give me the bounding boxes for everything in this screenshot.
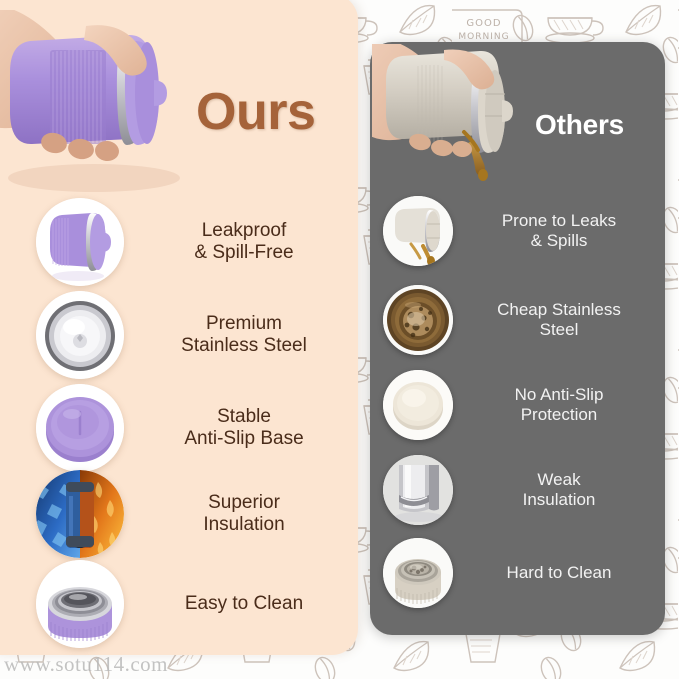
thumb-leaking-beige-lid (383, 196, 453, 266)
thumb-plain-smooth-base (383, 370, 453, 440)
thumb-rusty-stained-interior (383, 285, 453, 355)
thumb-hot-cold-split-tumbler (36, 470, 124, 558)
thumb-purple-lid-closeup (36, 198, 124, 286)
ours-title: Ours (196, 82, 315, 142)
ours-feature-row-1: Leakproof & Spill-Free (36, 198, 354, 286)
watermark: www.sotu114.com (4, 652, 168, 677)
others-feature-row-3: No Anti-Slip Protection (383, 370, 655, 440)
thumb-wide-mouth-opening (36, 560, 124, 648)
thumb-thin-single-wall (383, 455, 453, 525)
ours-feature-label-2: Premium Stainless Steel (138, 313, 350, 358)
others-feature-row-5: Hard to Clean (383, 538, 655, 608)
others-feature-label-3: No Anti-Slip Protection (465, 385, 653, 425)
others-title: Others (535, 109, 624, 141)
ours-feature-row-2: Premium Stainless Steel (36, 291, 354, 379)
ours-feature-row-3: Stable Anti-Slip Base (36, 384, 354, 472)
thumb-clean-stainless-interior (36, 291, 124, 379)
others-feature-row-4: Weak Insulation (383, 455, 655, 525)
others-feature-label-4: Weak Insulation (465, 470, 653, 510)
thumb-purple-silicone-base (36, 384, 124, 472)
ours-feature-row-4: Superior Insulation (36, 470, 354, 558)
ours-feature-label-3: Stable Anti-Slip Base (138, 406, 350, 451)
others-feature-label-5: Hard to Clean (465, 563, 653, 583)
ours-feature-label-5: Easy to Clean (138, 593, 350, 615)
others-feature-label-1: Prone to Leaks & Spills (465, 211, 653, 251)
others-feature-label-2: Cheap Stainless Steel (465, 300, 653, 340)
others-feature-row-2: Cheap Stainless Steel (383, 285, 655, 355)
others-hero-image (372, 44, 542, 194)
others-feature-row-1: Prone to Leaks & Spills (383, 196, 655, 266)
ours-feature-label-1: Leakproof & Spill-Free (138, 220, 350, 265)
thumb-narrow-dirty-opening (383, 538, 453, 608)
ours-feature-row-5: Easy to Clean (36, 560, 354, 648)
ours-hero-image (0, 10, 201, 195)
ours-feature-label-4: Superior Insulation (138, 492, 350, 537)
